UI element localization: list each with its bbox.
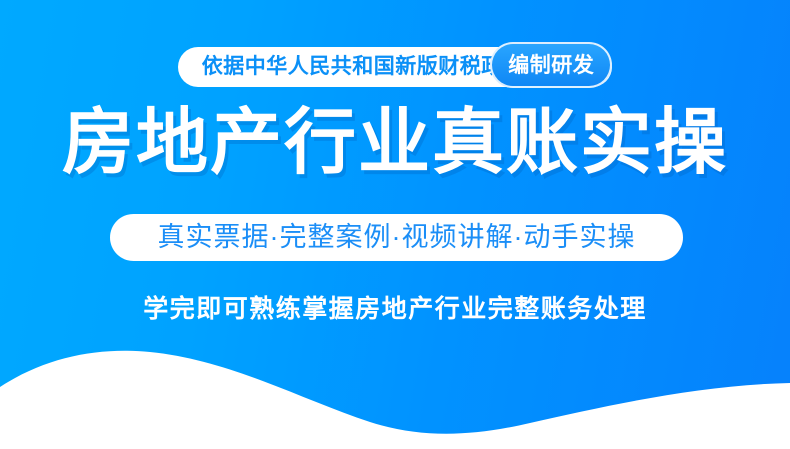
feature-pill-label: 真实票据·完整案例·视频讲解·动手实操 [158, 224, 636, 251]
policy-badge-highlight-label: 编制研发 [508, 55, 594, 76]
policy-badge-label: 依据中华人民共和国新版财税政策 [202, 56, 525, 77]
banner-content: 依据中华人民共和国新版财税政策 编制研发 房地产行业真账实操 真实票据·完整案例… [0, 0, 790, 449]
policy-badge: 依据中华人民共和国新版财税政策 编制研发 [178, 42, 613, 88]
policy-badge-highlight-pill: 编制研发 [490, 42, 612, 88]
feature-pill: 真实票据·完整案例·视频讲解·动手实操 [110, 214, 683, 261]
policy-badge-row: 依据中华人民共和国新版财税政策 编制研发 [0, 42, 790, 88]
banner-headline: 房地产行业真账实操 [0, 100, 790, 186]
banner-tagline: 学完即可熟练掌握房地产行业完整账务处理 [0, 292, 790, 326]
promo-banner: 依据中华人民共和国新版财税政策 编制研发 房地产行业真账实操 真实票据·完整案例… [0, 0, 790, 449]
